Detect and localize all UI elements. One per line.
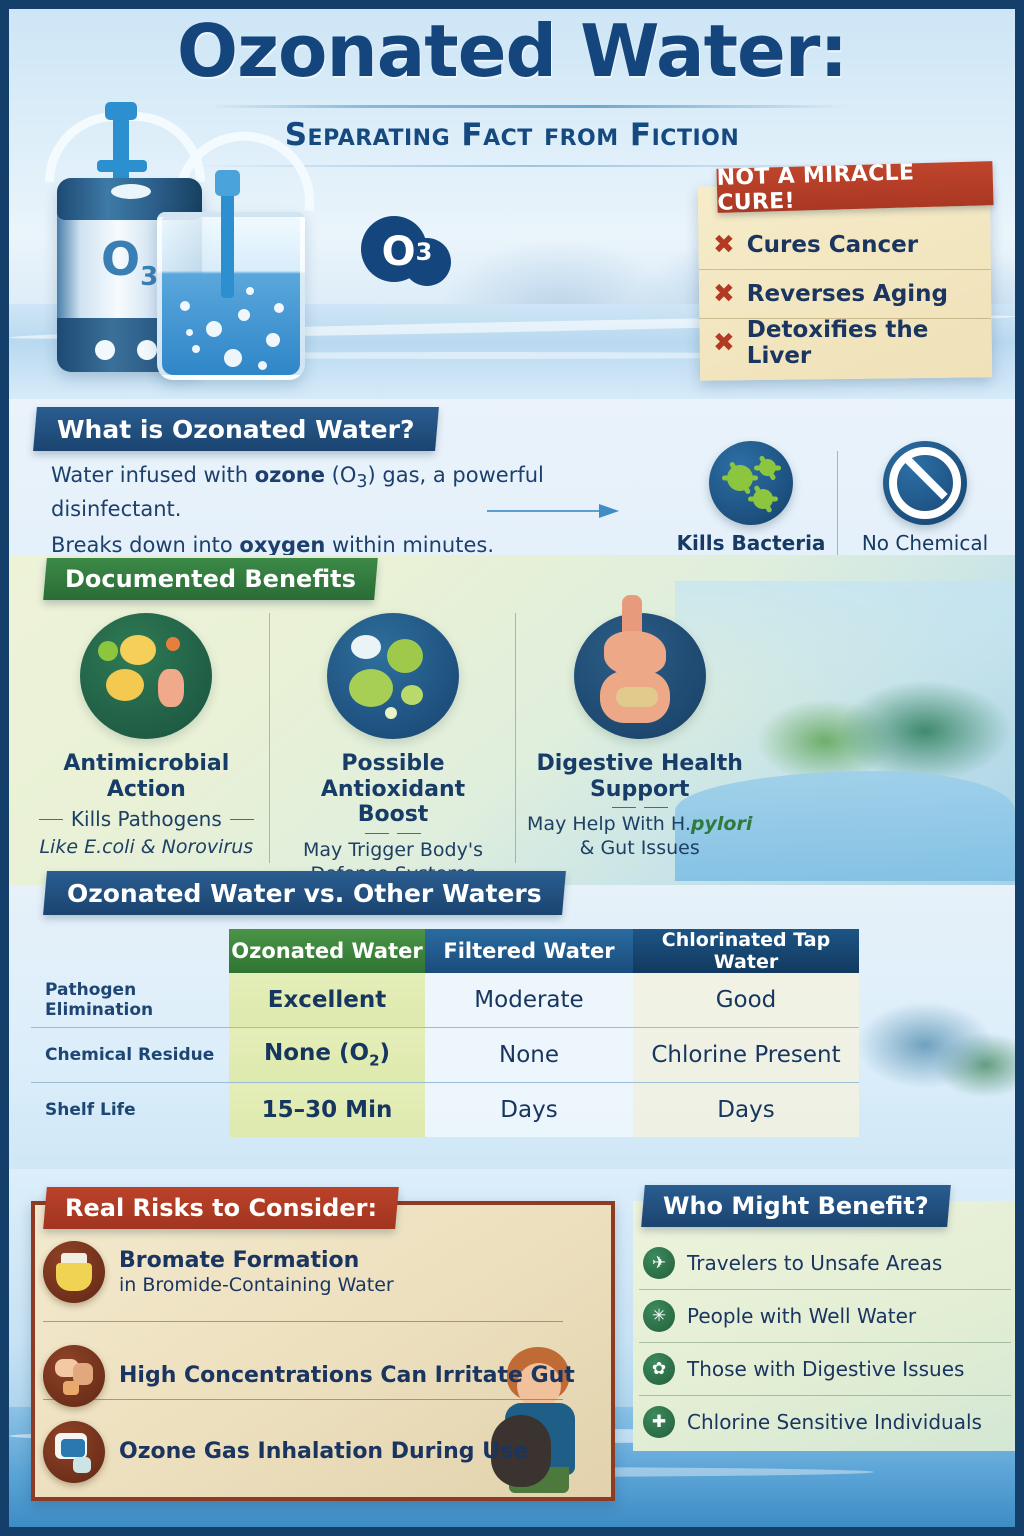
risk-item-text: High Concentrations Can Irritate Gut xyxy=(119,1363,575,1389)
myth-list: ✖ Cures Cancer ✖ Reverses Aging ✖ Detoxi… xyxy=(699,215,991,367)
risk-item: Bromate Formation in Bromide-Containing … xyxy=(43,1241,394,1303)
risk-divider xyxy=(43,1399,563,1400)
benefit-title: Possible Antioxidant Boost xyxy=(278,751,509,828)
what-is-heading-ribbon: What is Ozonated Water? xyxy=(33,407,438,451)
risk-item-text: Ozone Gas Inhalation During Use xyxy=(119,1439,528,1465)
cross-icon: ✖ xyxy=(713,232,735,258)
comparison-heading: Ozonated Water vs. Other Waters xyxy=(67,879,542,908)
microbes-icon xyxy=(80,613,212,739)
airplane-icon: ✈ xyxy=(643,1247,675,1279)
table-header-row: Ozonated Water Filtered Water Chlorinate… xyxy=(31,929,859,973)
risks-heading: Real Risks to Consider: xyxy=(65,1194,377,1222)
o3-molecule-badge: O3 xyxy=(361,216,453,288)
risk-divider xyxy=(43,1321,563,1322)
myth-item-label: Cures Cancer xyxy=(747,232,918,258)
table-corner-cell xyxy=(31,929,229,973)
who-benefits-item: ✿ Those with Digestive Issues xyxy=(639,1343,1011,1396)
who-benefits-item: ✈ Travelers to Unsafe Areas xyxy=(639,1237,1011,1290)
cell-chlorinated: Good xyxy=(633,973,859,1028)
benefit-column-digestive: Digestive Health Support May Help With H… xyxy=(516,609,763,886)
flask-icon xyxy=(43,1241,105,1303)
row-label: Shelf Life xyxy=(31,1083,229,1138)
infographic-poster: Ozonated Water: Separating Fact from Fic… xyxy=(0,0,1024,1536)
benefits-columns: Antimicrobial Action Kills Pathogens Lik… xyxy=(23,609,763,886)
generator-o3-label: O3 xyxy=(101,232,158,292)
page-title: Ozonated Water: xyxy=(9,15,1015,88)
risk-item: High Concentrations Can Irritate Gut xyxy=(43,1345,575,1407)
stones-icon xyxy=(43,1345,105,1407)
cross-icon: ✖ xyxy=(713,281,735,307)
who-benefits-list: ✈ Travelers to Unsafe Areas ✳ People wit… xyxy=(639,1237,1011,1448)
benefits-heading: Documented Benefits xyxy=(65,565,356,593)
valve-cap-icon xyxy=(105,102,137,120)
table-row: Chemical Residue None (O2) None Chlorine… xyxy=(31,1028,859,1083)
row-label: Chemical Residue xyxy=(31,1028,229,1083)
benefit-column-antioxidant: Possible Antioxidant Boost May Trigger B… xyxy=(270,609,517,886)
nozzle-tip-icon xyxy=(215,170,240,196)
who-benefits-label: Chlorine Sensitive Individuals xyxy=(687,1410,982,1434)
benefit-title: Antimicrobial Action xyxy=(31,751,262,802)
cell-ozonated: None (O2) xyxy=(229,1028,425,1083)
inhaler-icon xyxy=(43,1421,105,1483)
nozzle-icon xyxy=(221,178,234,298)
benefit-sub1: Kills Pathogens xyxy=(31,807,262,831)
column-header-ozonated: Ozonated Water xyxy=(229,929,425,973)
risk-item: Ozone Gas Inhalation During Use xyxy=(43,1421,528,1483)
myth-item-label: Detoxifies the Liver xyxy=(747,317,977,369)
cell-filtered: None xyxy=(425,1028,633,1083)
cross-icon: ✖ xyxy=(713,330,735,356)
who-benefits-label: People with Well Water xyxy=(687,1304,916,1328)
bacteria-virus-icon xyxy=(709,441,793,525)
ozone-generator-illustration: O3 xyxy=(29,104,329,384)
who-benefits-label: Those with Digestive Issues xyxy=(687,1357,964,1381)
digestive-tract-icon xyxy=(574,613,706,739)
canister-port xyxy=(111,184,151,199)
benefit-sub2: Like E.coli & Norovirus xyxy=(31,835,262,859)
cell-chlorinated: Chlorine Present xyxy=(633,1028,859,1083)
what-is-heading: What is Ozonated Water? xyxy=(57,415,415,444)
myth-card-banner-label: NOT A MIRACLE CURE! xyxy=(716,158,993,216)
cell-ozonated: 15–30 Min xyxy=(229,1083,425,1138)
column-header-chlorinated: Chlorinated Tap Water xyxy=(633,929,859,973)
arrow-right-icon xyxy=(487,504,635,518)
indicator-light-icon xyxy=(95,340,115,360)
column-header-filtered: Filtered Water xyxy=(425,929,633,973)
antioxidant-cells-icon xyxy=(327,613,459,739)
risk-item-text: Bromate Formation in Bromide-Containing … xyxy=(119,1248,394,1296)
row-label: Pathogen Elimination xyxy=(31,973,229,1028)
who-benefits-heading: Who Might Benefit? xyxy=(663,1192,929,1220)
benefit-sub1-divider xyxy=(524,807,755,808)
comparison-heading-ribbon: Ozonated Water vs. Other Waters xyxy=(43,871,566,915)
risks-heading-ribbon: Real Risks to Consider: xyxy=(43,1187,399,1229)
benefit-column-antimicrobial: Antimicrobial Action Kills Pathogens Lik… xyxy=(23,609,270,886)
indicator-light-icon xyxy=(137,340,157,360)
comparison-table: Ozonated Water Filtered Water Chlorinate… xyxy=(31,929,859,1137)
who-benefits-heading-ribbon: Who Might Benefit? xyxy=(641,1185,950,1227)
benefit-sub1-divider xyxy=(278,833,509,834)
myth-card-banner: NOT A MIRACLE CURE! xyxy=(716,161,993,213)
benefit-sub2: May Help With H.pylori & Gut Issues xyxy=(524,812,755,861)
myth-item: ✖ Cures Cancer xyxy=(699,221,991,270)
benefits-heading-ribbon: Documented Benefits xyxy=(43,558,378,600)
cell-chlorinated: Days xyxy=(633,1083,859,1138)
who-benefits-item: ✳ People with Well Water xyxy=(639,1290,1011,1343)
who-benefits-label: Travelers to Unsafe Areas xyxy=(687,1251,942,1275)
plus-cross-icon: ✚ xyxy=(643,1406,675,1438)
cell-filtered: Days xyxy=(425,1083,633,1138)
myth-item-label: Reverses Aging xyxy=(747,281,948,307)
table-row: Shelf Life 15–30 Min Days Days xyxy=(31,1083,859,1138)
no-residue-icon xyxy=(883,441,967,525)
cell-ozonated: Excellent xyxy=(229,973,425,1028)
well-water-icon: ✳ xyxy=(643,1300,675,1332)
table-row: Pathogen Elimination Excellent Moderate … xyxy=(31,973,859,1028)
benefit-title: Digestive Health Support xyxy=(524,751,755,802)
myth-item: ✖ Detoxifies the Liver xyxy=(699,319,991,367)
digestive-person-icon: ✿ xyxy=(643,1353,675,1385)
valve-arm-icon xyxy=(97,160,147,172)
myth-item: ✖ Reverses Aging xyxy=(699,270,991,319)
who-benefits-item: ✚ Chlorine Sensitive Individuals xyxy=(639,1396,1011,1448)
cell-filtered: Moderate xyxy=(425,973,633,1028)
